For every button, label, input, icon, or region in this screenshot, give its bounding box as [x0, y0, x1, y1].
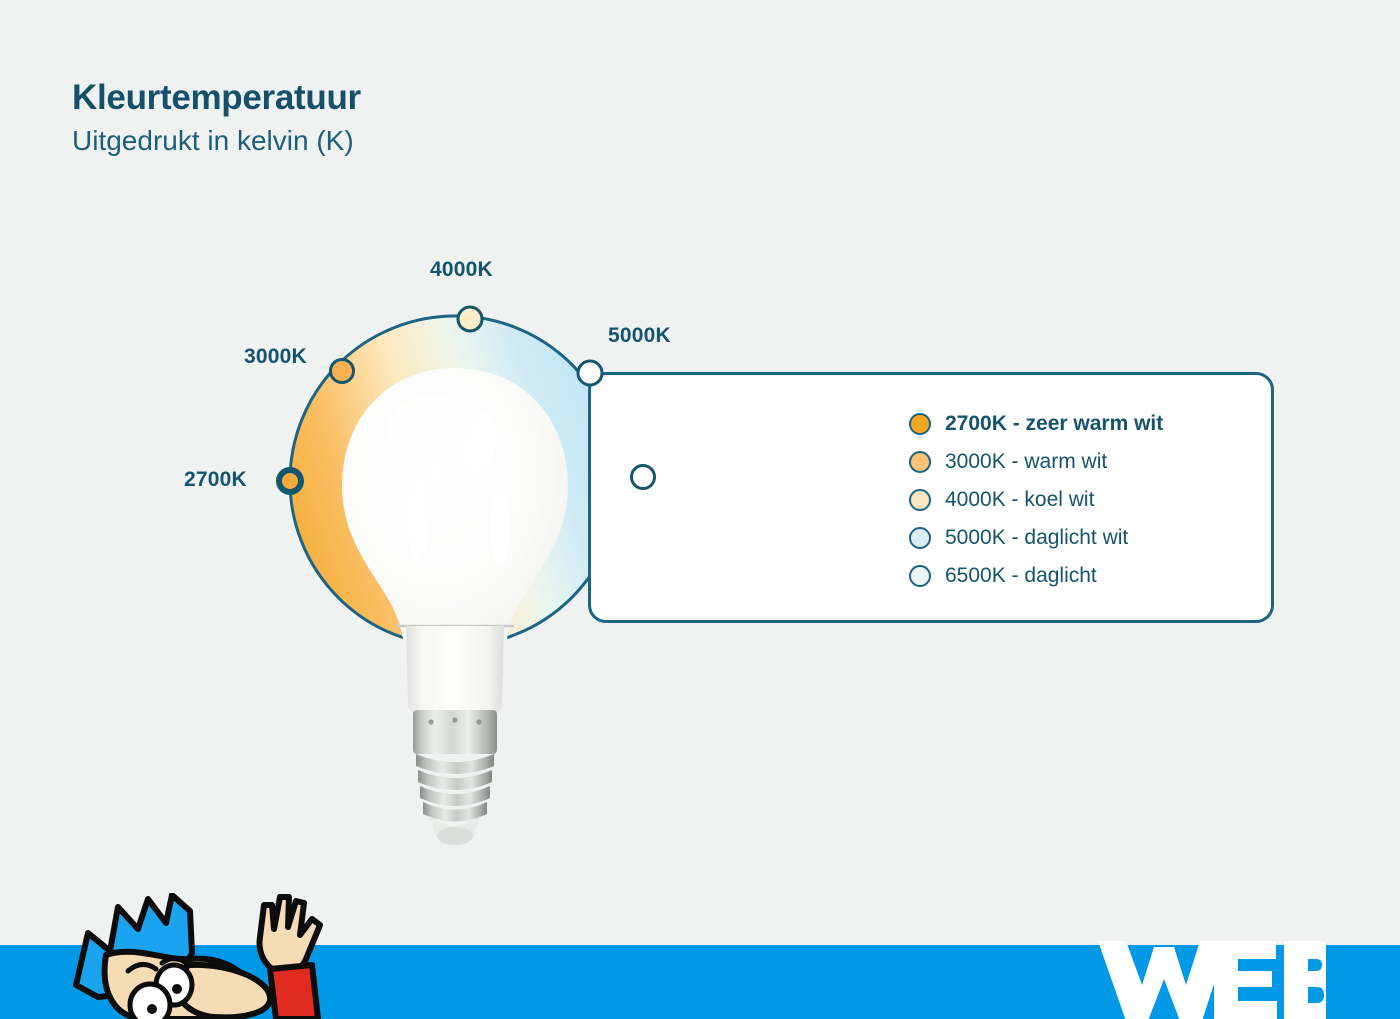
legend-item-6500k[interactable]: 6500K - daglicht: [909, 557, 1163, 595]
legend-swatch-2700k-icon: [909, 413, 931, 435]
led-bulb-illustration: [330, 358, 580, 858]
legend-item-5000k[interactable]: 5000K - daglicht wit: [909, 519, 1163, 557]
legend-swatch-5000k-icon: [909, 527, 931, 549]
legend-swatch-3000k-icon: [909, 451, 931, 473]
legend-label-5000k: 5000K - daglicht wit: [945, 526, 1128, 550]
tick-label-3000k: 3000K: [244, 345, 307, 369]
mascot-character: [14, 893, 344, 1019]
color-temperature-diagram: 2700K - zeer warm wit 3000K - warm wit 4…: [0, 0, 1400, 1019]
legend-item-4000k[interactable]: 4000K - koel wit: [909, 481, 1163, 519]
legend-label-3000k: 3000K - warm wit: [945, 450, 1107, 474]
legend-item-3000k[interactable]: 3000K - warm wit: [909, 443, 1163, 481]
tick-label-2700k: 2700K: [184, 468, 247, 492]
legend-item-2700k[interactable]: 2700K - zeer warm wit: [909, 405, 1163, 443]
legend-swatch-6500k-icon: [909, 565, 931, 587]
legend-label-4000k: 4000K - koel wit: [945, 488, 1094, 512]
tick-label-5000k: 5000K: [608, 324, 671, 348]
legend-label-6500k: 6500K - daglicht: [945, 564, 1097, 588]
legend-panel: 2700K - zeer warm wit 3000K - warm wit 4…: [588, 372, 1274, 623]
legend-list: 2700K - zeer warm wit 3000K - warm wit 4…: [909, 405, 1163, 595]
legend-label-2700k: 2700K - zeer warm wit: [945, 412, 1163, 436]
weba-logo: [1096, 933, 1326, 1019]
legend-swatch-4000k-icon: [909, 489, 931, 511]
tick-label-4000k: 4000K: [430, 258, 493, 282]
